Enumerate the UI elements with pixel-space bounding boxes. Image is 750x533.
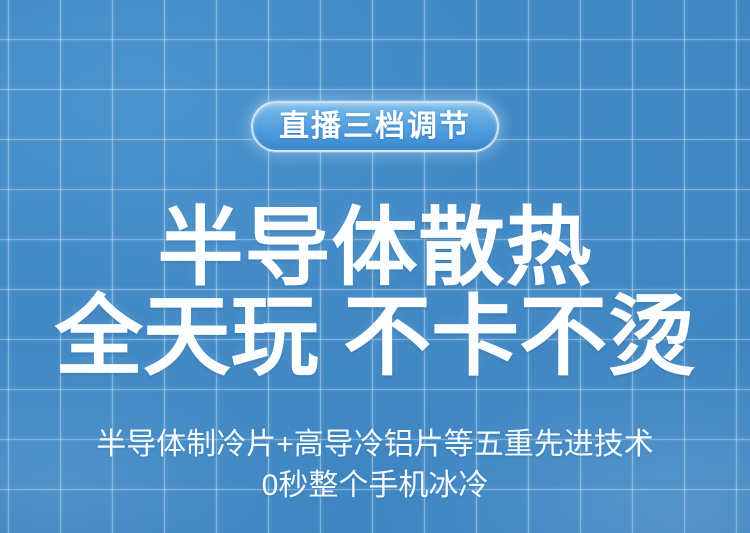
feature-badge-label: 直播三档调节: [279, 112, 471, 142]
subtitle-line-1: 半导体制冷片+高导冷铝片等五重先进技术: [0, 424, 750, 465]
subtitle-block: 半导体制冷片+高导冷铝片等五重先进技术 0秒整个手机冰冷: [0, 424, 750, 507]
headline-block: 半导体散热 全天玩 不卡不烫: [0, 206, 750, 380]
poster-content: 直播三档调节 半导体散热 全天玩 不卡不烫 半导体制冷片+高导冷铝片等五重先进技…: [0, 0, 750, 533]
subtitle-line-2: 0秒整个手机冰冷: [0, 465, 750, 506]
feature-badge[interactable]: 直播三档调节: [251, 101, 499, 152]
headline-line-1: 半导体散热: [0, 206, 750, 291]
promo-poster: 直播三档调节 半导体散热 全天玩 不卡不烫 半导体制冷片+高导冷铝片等五重先进技…: [0, 0, 750, 533]
badge-container: 直播三档调节: [251, 101, 499, 152]
headline-line-2: 全天玩 不卡不烫: [0, 293, 750, 380]
